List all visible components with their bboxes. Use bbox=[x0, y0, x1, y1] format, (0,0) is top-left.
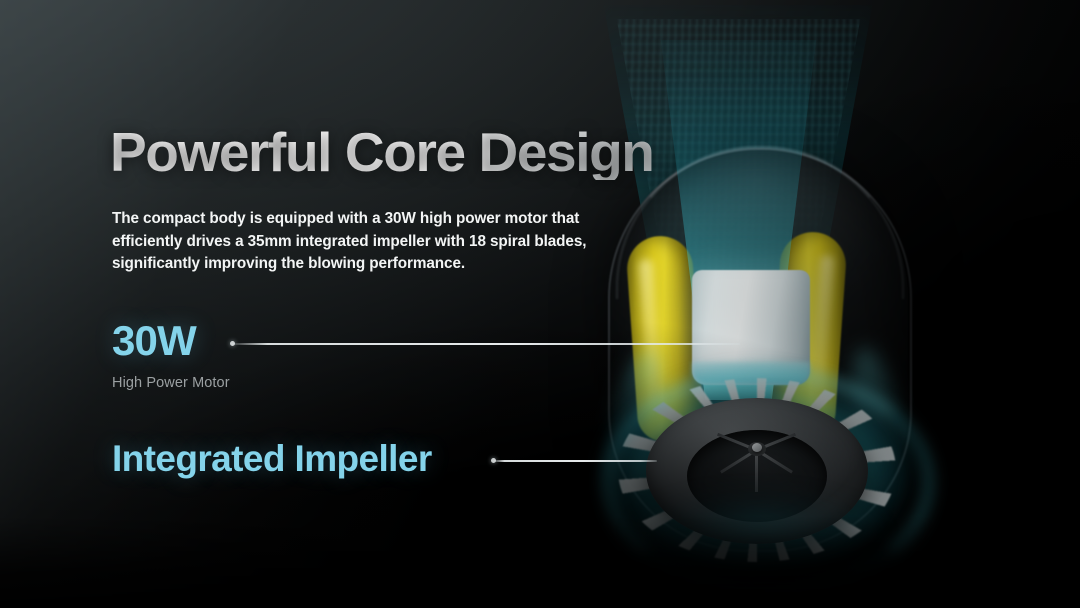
leader-line-power bbox=[232, 343, 740, 345]
leader-dot-power bbox=[230, 341, 235, 346]
product-feature-slide: Powerful Core Design The compact body is… bbox=[0, 0, 1080, 608]
description-text: The compact body is equipped with a 30W … bbox=[112, 208, 642, 276]
callout-impeller-value: Integrated Impeller bbox=[112, 440, 432, 477]
page-title: Powerful Core Design bbox=[110, 124, 654, 180]
leader-line-impeller bbox=[493, 460, 657, 462]
callout-impeller: Integrated Impeller bbox=[112, 440, 432, 477]
description-paragraph: The compact body is equipped with a 30W … bbox=[112, 208, 642, 276]
bottom-fade bbox=[0, 516, 1080, 608]
callout-power-sub: High Power Motor bbox=[112, 375, 230, 391]
leader-dot-impeller bbox=[491, 458, 496, 463]
callout-power-value: 30W bbox=[112, 320, 230, 362]
callout-power: 30W High Power Motor bbox=[112, 320, 230, 391]
